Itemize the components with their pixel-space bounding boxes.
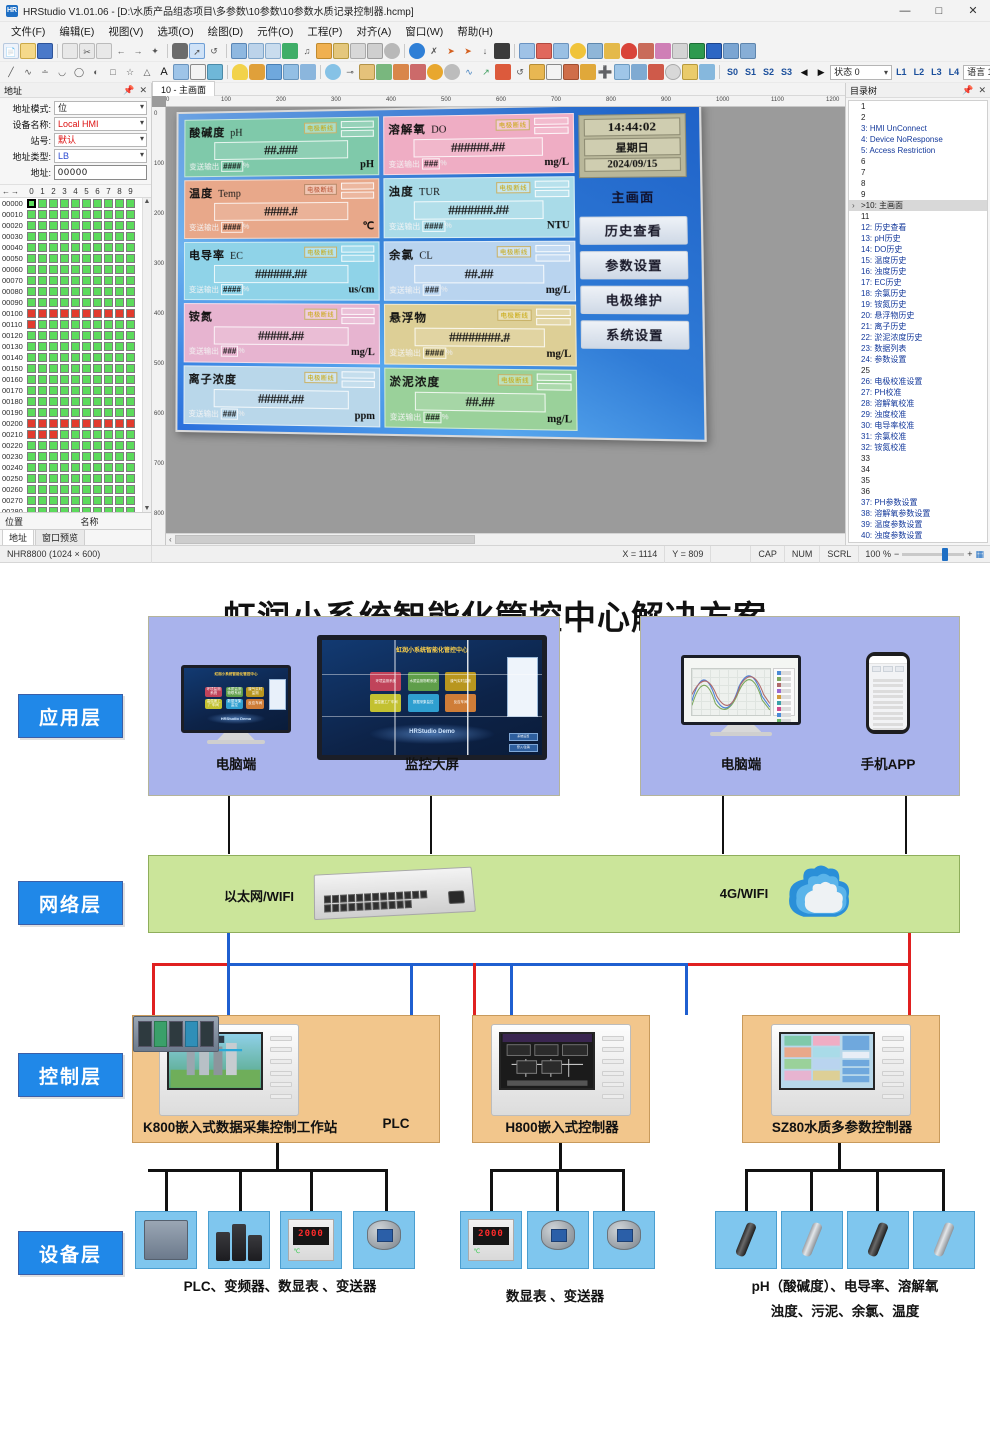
address-bit-cell[interactable]: [115, 474, 124, 483]
address-bit-cell[interactable]: [27, 331, 36, 340]
address-bit-cell[interactable]: [82, 232, 91, 241]
tree-item-4[interactable]: 4: Device NoResponse: [849, 134, 987, 145]
canvas-viewport[interactable]: 酸碱度pH 电极断线 ##.### 变送输出 #### % pH: [166, 107, 845, 533]
address-bit-cell[interactable]: [104, 320, 113, 329]
menu-options[interactable]: 选项(O): [150, 22, 200, 41]
address-bit-cell[interactable]: [27, 496, 36, 505]
close-icon[interactable]: ✕: [978, 85, 986, 96]
address-bit-cell[interactable]: [49, 485, 58, 494]
device-name-select[interactable]: Local HMI: [54, 117, 147, 131]
address-bit-cell[interactable]: [115, 232, 124, 241]
address-bit-cell[interactable]: [115, 342, 124, 351]
tree-item-16[interactable]: 16: 浊度历史: [849, 266, 987, 277]
tree-item-7[interactable]: 7: [849, 167, 987, 178]
address-bit-cell[interactable]: [93, 331, 102, 340]
tree-item-2[interactable]: 2: [849, 112, 987, 123]
address-bit-cell[interactable]: [60, 397, 69, 406]
address-bit-cell[interactable]: [49, 441, 58, 450]
address-bit-cell[interactable]: [71, 265, 80, 274]
address-bit-cell[interactable]: [93, 364, 102, 373]
table-icon[interactable]: [723, 43, 739, 59]
address-grid-row[interactable]: 00270: [2, 495, 142, 506]
address-bit-cell[interactable]: [71, 254, 80, 263]
bar-chart-icon[interactable]: [495, 64, 511, 80]
address-bit-cell[interactable]: [115, 276, 124, 285]
param-ph-out-value[interactable]: ####: [221, 161, 243, 172]
address-grid-row[interactable]: 00090: [2, 297, 142, 308]
address-bit-cell[interactable]: [82, 254, 91, 263]
address-bit-cell[interactable]: [60, 221, 69, 230]
address-bit-cell[interactable]: [126, 419, 135, 428]
line-tool-icon[interactable]: ╱: [3, 64, 19, 80]
hmi-button-electrode-maint[interactable]: 电极维护: [580, 286, 689, 315]
address-bit-cell[interactable]: [82, 474, 91, 483]
address-bit-cell[interactable]: [93, 221, 102, 230]
address-bit-cell[interactable]: [71, 298, 80, 307]
address-bit-cell[interactable]: [82, 419, 91, 428]
db-icon[interactable]: [689, 43, 705, 59]
address-bit-cell[interactable]: [27, 353, 36, 362]
address-input[interactable]: 00000: [54, 165, 147, 180]
param-chlorine-toggle[interactable]: [535, 245, 570, 264]
address-bit-cell[interactable]: [104, 397, 113, 406]
address-bit-cell[interactable]: [49, 463, 58, 472]
address-bit-cell[interactable]: [60, 496, 69, 505]
address-bit-cell[interactable]: [60, 232, 69, 241]
hmi-main-screen[interactable]: 酸碱度pH 电极断线 ##.### 变送输出 #### % pH: [175, 107, 706, 442]
close-icon[interactable]: ✕: [139, 85, 147, 96]
param-temp-toggle[interactable]: [341, 183, 374, 202]
param-suspended-solids-toggle[interactable]: [536, 309, 571, 328]
address-bit-cell[interactable]: [104, 474, 113, 483]
state-select[interactable]: 状态 0: [830, 65, 892, 80]
shape2-icon[interactable]: [333, 43, 349, 59]
address-bit-cell[interactable]: [60, 419, 69, 428]
address-bit-cell[interactable]: [27, 320, 36, 329]
address-bit-cell[interactable]: [82, 309, 91, 318]
address-bit-cell[interactable]: [93, 496, 102, 505]
address-bit-cell[interactable]: [71, 331, 80, 340]
address-bit-cell[interactable]: [93, 243, 102, 252]
param-do-value[interactable]: ######.##: [413, 137, 543, 157]
clock-icon[interactable]: [570, 43, 586, 59]
param-ec[interactable]: 电导率EC 电极断线 ######.## 变送输出 #### % us/cm: [184, 241, 380, 301]
address-bit-cell[interactable]: [93, 232, 102, 241]
address-bit-cell[interactable]: [38, 463, 47, 472]
address-bit-cell[interactable]: [126, 342, 135, 351]
address-bit-cell[interactable]: [82, 265, 91, 274]
address-bit-cell[interactable]: [71, 463, 80, 472]
excel-icon[interactable]: [706, 43, 722, 59]
address-bit-cell[interactable]: [126, 287, 135, 296]
address-bit-cell[interactable]: [60, 474, 69, 483]
layer-button-l2[interactable]: L2: [911, 66, 928, 78]
address-bit-cell[interactable]: [38, 441, 47, 450]
address-bit-cell[interactable]: [93, 265, 102, 274]
indicator-lamp-icon[interactable]: [232, 64, 248, 80]
address-bit-cell[interactable]: [93, 430, 102, 439]
zoom-in-button[interactable]: +: [967, 549, 972, 559]
address-bit-cell[interactable]: [93, 276, 102, 285]
address-bit-cell[interactable]: [60, 353, 69, 362]
xy-chart-icon[interactable]: ↗: [478, 64, 494, 80]
hmi-button-main-screen[interactable]: 主画面: [579, 183, 687, 210]
address-bit-cell[interactable]: [60, 441, 69, 450]
address-bit-cell[interactable]: [115, 199, 124, 208]
address-bit-cell[interactable]: [38, 320, 47, 329]
tree-item-15[interactable]: 15: 温度历史: [849, 255, 987, 266]
group-icon[interactable]: [350, 43, 366, 59]
address-grid-row[interactable]: 00230: [2, 451, 142, 462]
address-bit-cell[interactable]: [27, 254, 36, 263]
address-grid-scrollbar[interactable]: ▲ ▼: [142, 198, 151, 512]
param-temp[interactable]: 温度Temp 电极断线 ####.# 变送输出 #### % ℃: [184, 179, 379, 239]
address-bit-cell[interactable]: [71, 320, 80, 329]
address-bit-cell[interactable]: [27, 452, 36, 461]
keypad-icon[interactable]: [563, 64, 579, 80]
address-bit-cell[interactable]: [115, 397, 124, 406]
address-bit-cell[interactable]: [71, 386, 80, 395]
build-icon[interactable]: ✗: [426, 43, 442, 59]
address-bit-cell[interactable]: [38, 452, 47, 461]
tree-item-36[interactable]: 36: [849, 486, 987, 497]
address-grid-row[interactable]: 00240: [2, 462, 142, 473]
address-bit-cell[interactable]: [60, 386, 69, 395]
address-bit-cell[interactable]: [71, 243, 80, 252]
state-button-s3[interactable]: S3: [778, 66, 795, 78]
param-turbidity-value[interactable]: #######.##: [414, 201, 544, 220]
text-tool-icon[interactable]: A: [156, 64, 172, 80]
address-bit-cell[interactable]: [49, 353, 58, 362]
address-bit-cell[interactable]: [38, 331, 47, 340]
address-bit-cell[interactable]: [49, 331, 58, 340]
address-grid[interactable]: 0000000010000200003000040000500006000070…: [0, 197, 151, 512]
tree-item-20[interactable]: 20: 悬浮物历史: [849, 310, 987, 321]
address-bit-cell[interactable]: [104, 430, 113, 439]
tree-item-23[interactable]: 23: 数据列表: [849, 343, 987, 354]
address-bit-cell[interactable]: [82, 199, 91, 208]
simulate-offline-icon[interactable]: [519, 43, 535, 59]
address-grid-row[interactable]: 00140: [2, 352, 142, 363]
delete-icon[interactable]: [494, 43, 510, 59]
address-bit-cell[interactable]: [27, 287, 36, 296]
tree-item-1[interactable]: 1: [849, 101, 987, 112]
address-bit-cell[interactable]: [115, 353, 124, 362]
address-bit-cell[interactable]: [60, 342, 69, 351]
char-input-icon[interactable]: [283, 64, 299, 80]
address-grid-row[interactable]: 00010: [2, 209, 142, 220]
address-bit-cell[interactable]: [60, 430, 69, 439]
address-bit-cell[interactable]: [104, 463, 113, 472]
state-next-icon[interactable]: ▶: [813, 64, 829, 80]
pie-tool-icon[interactable]: ◐: [88, 64, 104, 80]
calendar-icon[interactable]: [682, 64, 698, 80]
address-bit-cell[interactable]: [60, 375, 69, 384]
address-bit-cell[interactable]: [82, 342, 91, 351]
timer-icon[interactable]: [665, 64, 681, 80]
address-bit-cell[interactable]: [71, 375, 80, 384]
address-bit-cell[interactable]: [27, 232, 36, 241]
address-bit-cell[interactable]: [49, 221, 58, 230]
address-bit-cell[interactable]: [27, 386, 36, 395]
menu-project[interactable]: 工程(P): [300, 22, 349, 41]
address-bit-cell[interactable]: [104, 265, 113, 274]
address-bit-cell[interactable]: [93, 441, 102, 450]
address-grid-row[interactable]: 00160: [2, 374, 142, 385]
address-bit-cell[interactable]: [93, 254, 102, 263]
address-bit-cell[interactable]: [38, 375, 47, 384]
pie-chart-icon[interactable]: [427, 64, 443, 80]
param-ec-out-value[interactable]: ####: [221, 284, 243, 295]
address-bit-cell[interactable]: [104, 342, 113, 351]
address-bit-cell[interactable]: [71, 419, 80, 428]
param-sludge-toggle[interactable]: [537, 373, 572, 392]
grid-nav[interactable]: ←→: [2, 187, 26, 196]
address-grid-row[interactable]: 00000: [2, 198, 142, 209]
address-bit-cell[interactable]: [49, 298, 58, 307]
address-bit-cell[interactable]: [71, 199, 80, 208]
video-icon[interactable]: [631, 64, 647, 80]
param-sludge[interactable]: 淤泥浓度 电极断线 ##.## 变送输出 ### % mg/L: [384, 367, 577, 431]
address-bit-cell[interactable]: [93, 342, 102, 351]
canvas-area[interactable]: 0100200300400500600700800900100011001200…: [152, 96, 845, 545]
address-bit-cell[interactable]: [126, 430, 135, 439]
menu-window[interactable]: 窗口(W): [398, 22, 450, 41]
address-bit-cell[interactable]: [126, 408, 135, 417]
tree-item-13[interactable]: 13: pH历史: [849, 233, 987, 244]
address-bit-cell[interactable]: [115, 441, 124, 450]
address-bit-cell[interactable]: [49, 496, 58, 505]
arrow-left-icon[interactable]: ➤: [460, 43, 476, 59]
address-bit-cell[interactable]: [115, 210, 124, 219]
export-icon[interactable]: [740, 43, 756, 59]
address-bit-cell[interactable]: [104, 221, 113, 230]
address-bit-cell[interactable]: [27, 419, 36, 428]
address-bit-cell[interactable]: [104, 441, 113, 450]
tree-item-34[interactable]: 34: [849, 464, 987, 475]
param-ammonia-toggle[interactable]: [341, 308, 374, 327]
tree-item-8[interactable]: 8: [849, 178, 987, 189]
address-bit-cell[interactable]: [38, 265, 47, 274]
address-bit-cell[interactable]: [82, 331, 91, 340]
scroll-left-icon[interactable]: ‹: [166, 535, 175, 544]
address-bit-cell[interactable]: [82, 463, 91, 472]
tree-item-22[interactable]: 22: 淤泥浓度历史: [849, 332, 987, 343]
address-bit-cell[interactable]: [60, 485, 69, 494]
tree-item-24[interactable]: 24: 参数设置: [849, 354, 987, 365]
menu-edit[interactable]: 编辑(E): [52, 22, 101, 41]
address-bit-cell[interactable]: [60, 265, 69, 274]
address-bit-cell[interactable]: [27, 210, 36, 219]
address-bit-cell[interactable]: [49, 375, 58, 384]
address-bit-cell[interactable]: [126, 375, 135, 384]
address-bit-cell[interactable]: [126, 210, 135, 219]
tree-item-21[interactable]: 21: 离子历史: [849, 321, 987, 332]
address-bit-cell[interactable]: [126, 298, 135, 307]
star-tool-icon[interactable]: ☆: [122, 64, 138, 80]
param-temp-value[interactable]: ####.#: [215, 202, 348, 221]
address-bit-cell[interactable]: [126, 452, 135, 461]
address-bit-cell[interactable]: [82, 276, 91, 285]
address-bit-cell[interactable]: [49, 430, 58, 439]
address-bit-cell[interactable]: [49, 243, 58, 252]
menu-help[interactable]: 帮助(H): [450, 22, 500, 41]
address-grid-row[interactable]: 00260: [2, 484, 142, 495]
address-bit-cell[interactable]: [71, 221, 80, 230]
menu-element[interactable]: 元件(O): [250, 22, 300, 41]
tree-item-39[interactable]: 39: 温度参数设置: [849, 519, 987, 530]
layer-button-l1[interactable]: L1: [893, 66, 910, 78]
address-bit-cell[interactable]: [38, 298, 47, 307]
rotate-icon[interactable]: ↺: [206, 43, 222, 59]
address-grid-row[interactable]: 00190: [2, 407, 142, 418]
link-icon[interactable]: [587, 43, 603, 59]
address-bit-cell[interactable]: [126, 463, 135, 472]
address-bit-cell[interactable]: [27, 298, 36, 307]
address-bit-cell[interactable]: [38, 342, 47, 351]
address-bit-cell[interactable]: [27, 265, 36, 274]
address-bit-cell[interactable]: [60, 331, 69, 340]
tree-item-35[interactable]: 35: [849, 475, 987, 486]
param-suspended-solids[interactable]: 悬浮物 电极断线 ########.# 变送输出 #### % mg/L: [384, 304, 577, 366]
image3-icon[interactable]: [265, 43, 281, 59]
binoculars-icon[interactable]: [172, 43, 188, 59]
address-bit-cell[interactable]: [93, 474, 102, 483]
address-bit-cell[interactable]: [126, 320, 135, 329]
address-bit-cell[interactable]: [49, 364, 58, 373]
address-bit-cell[interactable]: [126, 397, 135, 406]
address-bit-cell[interactable]: [60, 408, 69, 417]
address-bit-cell[interactable]: [60, 287, 69, 296]
address-bit-cell[interactable]: [27, 199, 36, 208]
address-bit-cell[interactable]: [82, 485, 91, 494]
hmi-button-system-settings[interactable]: 系统设置: [581, 320, 690, 349]
layer-button-l4[interactable]: L4: [946, 66, 963, 78]
address-bit-cell[interactable]: [115, 452, 124, 461]
address-bit-cell[interactable]: [104, 298, 113, 307]
address-bit-cell[interactable]: [115, 221, 124, 230]
tree-item-6[interactable]: 6: [849, 156, 987, 167]
address-bit-cell[interactable]: [49, 254, 58, 263]
state-button-s2[interactable]: S2: [760, 66, 777, 78]
address-bit-cell[interactable]: [71, 397, 80, 406]
param-sludge-value[interactable]: ##.##: [415, 391, 546, 412]
address-bit-cell[interactable]: [27, 342, 36, 351]
address-grid-row[interactable]: 00200: [2, 418, 142, 429]
address-grid-row[interactable]: 00130: [2, 341, 142, 352]
menu-draw[interactable]: 绘图(D): [201, 22, 251, 41]
param-ec-toggle[interactable]: [341, 245, 374, 263]
address-bit-cell[interactable]: [27, 408, 36, 417]
address-grid-row[interactable]: 00100: [2, 308, 142, 319]
address-bit-cell[interactable]: [126, 276, 135, 285]
menu-view[interactable]: 视图(V): [101, 22, 150, 41]
address-mode-select[interactable]: 位: [54, 101, 147, 115]
address-bit-cell[interactable]: [49, 474, 58, 483]
pin-toolbar-icon[interactable]: ✦: [147, 43, 163, 59]
address-bit-cell[interactable]: [126, 485, 135, 494]
address-bit-cell[interactable]: [38, 474, 47, 483]
address-bit-cell[interactable]: [82, 397, 91, 406]
tab-window-preview[interactable]: 窗口预览: [35, 529, 85, 545]
station-select[interactable]: 默认: [54, 133, 147, 147]
color-fill-icon[interactable]: [282, 43, 298, 59]
image2-icon[interactable]: [248, 43, 264, 59]
address-bit-cell[interactable]: [104, 386, 113, 395]
address-bit-cell[interactable]: [38, 397, 47, 406]
address-grid-row[interactable]: 00120: [2, 330, 142, 341]
address-bit-cell[interactable]: [49, 210, 58, 219]
address-bit-cell[interactable]: [27, 221, 36, 230]
gauge-icon[interactable]: [444, 64, 460, 80]
address-bit-cell[interactable]: [71, 342, 80, 351]
monitor-icon[interactable]: [553, 43, 569, 59]
address-bit-cell[interactable]: [82, 452, 91, 461]
plus-icon[interactable]: ➕: [597, 64, 613, 80]
address-bit-cell[interactable]: [104, 276, 113, 285]
address-bit-cell[interactable]: [126, 309, 135, 318]
param-ph[interactable]: 酸碱度pH 电极断线 ##.### 变送输出 #### % pH: [184, 116, 379, 177]
tree-item-14[interactable]: 14: DO历史: [849, 244, 987, 255]
print-page-icon[interactable]: [648, 64, 664, 80]
address-bit-cell[interactable]: [71, 276, 80, 285]
address-bit-cell[interactable]: [27, 276, 36, 285]
polyline-tool-icon[interactable]: ∿: [20, 64, 36, 80]
tree-item-5[interactable]: 5: Access Restriction: [849, 145, 987, 156]
address-bit-cell[interactable]: [49, 199, 58, 208]
address-bit-cell[interactable]: [93, 199, 102, 208]
address-bit-cell[interactable]: [82, 441, 91, 450]
address-bit-cell[interactable]: [71, 353, 80, 362]
tree-item-17[interactable]: 17: EC历史: [849, 277, 987, 288]
script-icon[interactable]: [699, 64, 715, 80]
address-bit-cell[interactable]: [60, 320, 69, 329]
address-bit-cell[interactable]: [71, 474, 80, 483]
tree-item-41[interactable]: 41: 电导率参数设置: [849, 541, 987, 543]
address-bit-cell[interactable]: [82, 430, 91, 439]
address-bit-cell[interactable]: [71, 452, 80, 461]
address-bit-cell[interactable]: [38, 254, 47, 263]
key-icon[interactable]: [580, 64, 596, 80]
address-bit-cell[interactable]: [27, 463, 36, 472]
settings-gear-icon[interactable]: [409, 43, 425, 59]
address-bit-cell[interactable]: [115, 386, 124, 395]
shape-icon[interactable]: [316, 43, 332, 59]
param-ion-value[interactable]: #####.##: [214, 389, 348, 409]
document-tab-main-screen[interactable]: 10 - 主画面: [152, 81, 215, 97]
zoom-control[interactable]: 100 % − + ▦: [859, 549, 990, 560]
tree-item-3[interactable]: 3: HMI UnConnect: [849, 123, 987, 134]
param-ammonia-value[interactable]: #####.##: [214, 327, 348, 346]
tree-item-10[interactable]: >10: 主画面: [849, 200, 987, 211]
address-bit-cell[interactable]: [60, 210, 69, 219]
address-bit-cell[interactable]: [126, 353, 135, 362]
zoom-out-button[interactable]: −: [894, 549, 899, 559]
address-bit-cell[interactable]: [38, 485, 47, 494]
address-bit-cell[interactable]: [49, 397, 58, 406]
folder-icon[interactable]: [529, 64, 545, 80]
address-bit-cell[interactable]: [115, 320, 124, 329]
param-temp-out-value[interactable]: ####: [221, 222, 243, 233]
address-bit-cell[interactable]: [49, 452, 58, 461]
close-button[interactable]: ✕: [956, 0, 990, 22]
address-bit-cell[interactable]: [38, 364, 47, 373]
address-grid-row[interactable]: 00110: [2, 319, 142, 330]
address-bit-cell[interactable]: [104, 243, 113, 252]
sound-icon[interactable]: ♫: [299, 43, 315, 59]
param-sludge-out-value[interactable]: ###: [423, 411, 441, 423]
address-bit-cell[interactable]: [38, 353, 47, 362]
